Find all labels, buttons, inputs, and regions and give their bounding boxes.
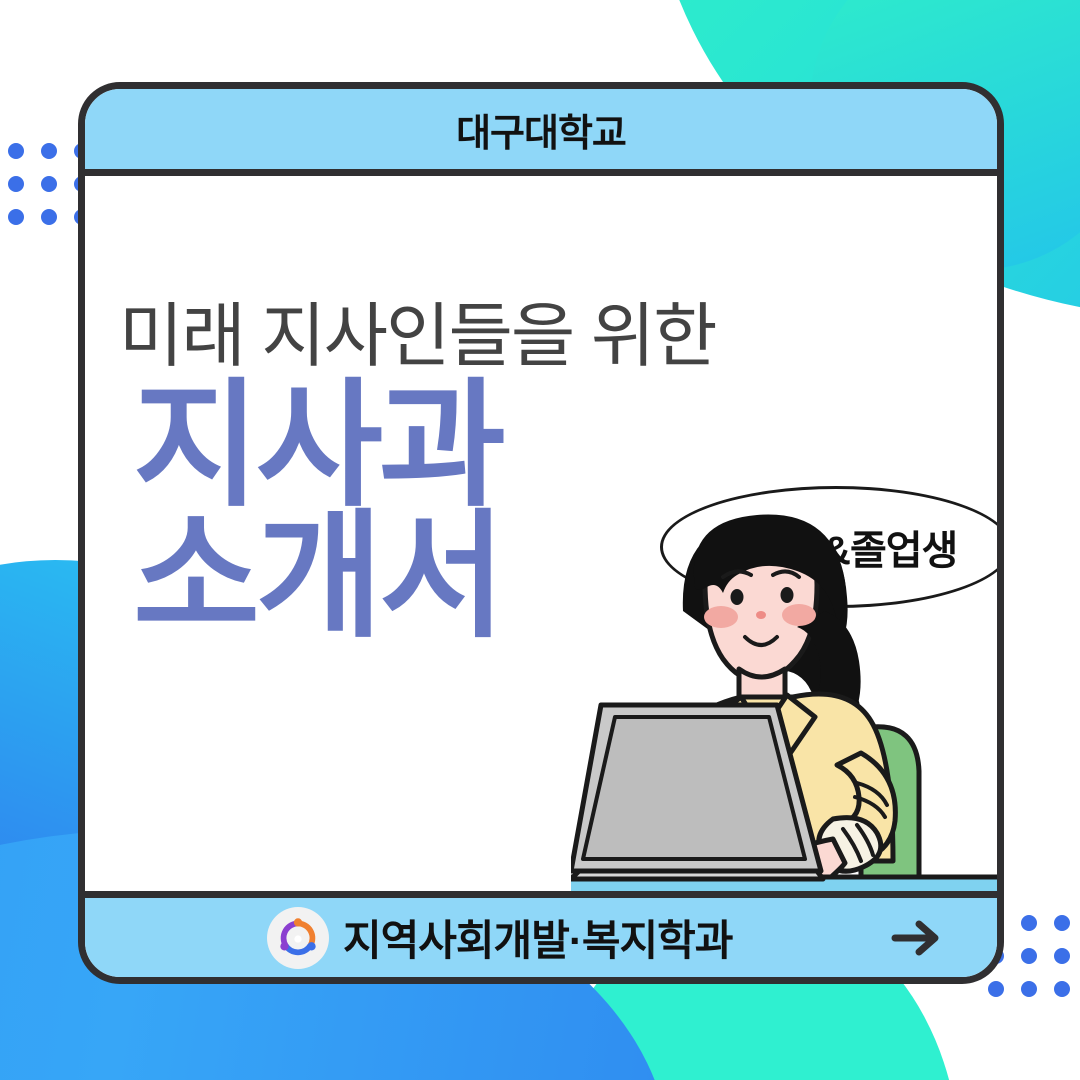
community-development-welfare-logo (267, 907, 329, 969)
dot (1021, 948, 1037, 964)
dot (8, 143, 24, 159)
card-footer: 지역사회개발·복지학과 (85, 891, 997, 977)
arrow-right-icon[interactable] (889, 918, 943, 958)
dot (41, 176, 57, 192)
dot (8, 176, 24, 192)
dot (1021, 981, 1037, 997)
woman-at-laptop-illustration (571, 491, 997, 891)
dot (1054, 981, 1070, 997)
dot (1054, 948, 1070, 964)
department-name: 지역사회개발·복지학과 (343, 907, 732, 968)
dot (41, 209, 57, 225)
dot (988, 981, 1004, 997)
dot (8, 209, 24, 225)
university-name: 대구대학교 (456, 102, 626, 157)
poster-canvas: 대구대학교 미래 지사인들을 위한 지사과 소개서 교수님&졸업생 (0, 0, 1080, 1080)
page-title-line-2: 소개서 (133, 512, 502, 643)
page-title-line-1: 지사과 (133, 381, 502, 512)
poster-card: 대구대학교 미래 지사인들을 위한 지사과 소개서 교수님&졸업생 (78, 82, 1004, 984)
dot (41, 143, 57, 159)
card-header: 대구대학교 (85, 89, 997, 176)
dot (1054, 915, 1070, 931)
card-body: 미래 지사인들을 위한 지사과 소개서 교수님&졸업생 (85, 176, 997, 891)
dot (1021, 915, 1037, 931)
page-title: 지사과 소개서 (133, 381, 502, 643)
subtitle-text: 미래 지사인들을 위한 (119, 280, 716, 381)
